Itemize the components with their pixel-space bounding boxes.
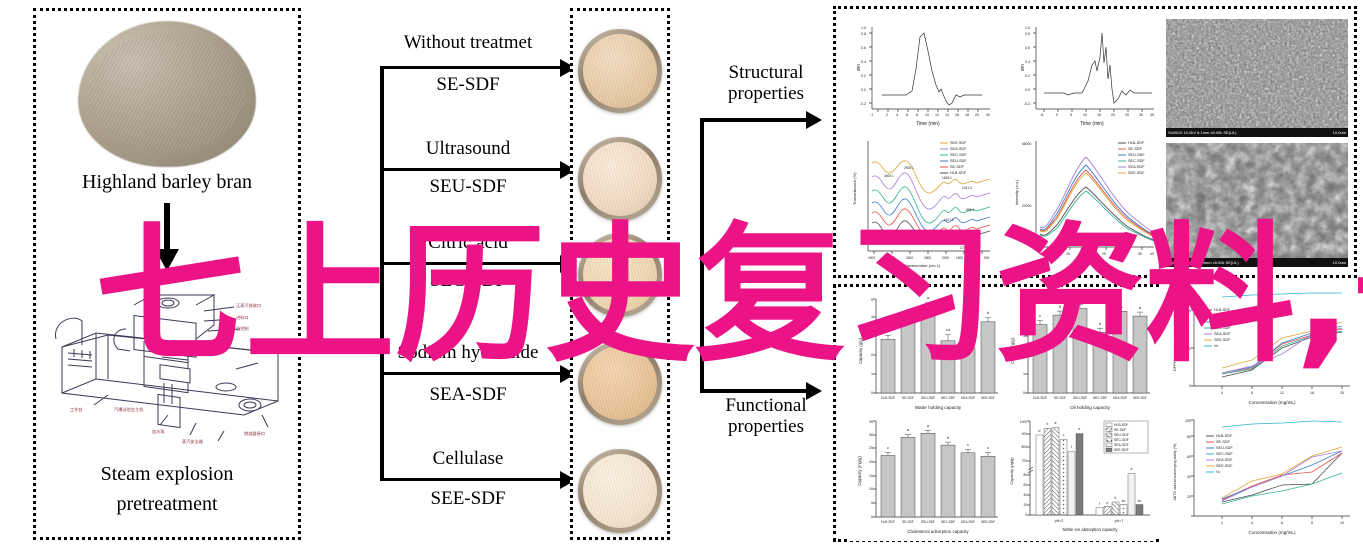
svg-text:HLB-SDF: HLB-SDF [881,396,895,400]
treatment-product-4: SEE-SDF [368,488,568,510]
abts-scavenging-chart: 246 810 204060 80100 Concentration (mg/m… [1160,414,1357,542]
treatment-method-1: Ultrasound [368,138,568,160]
svg-text:SEE-SDF: SEE-SDF [950,141,967,145]
svg-text:SE-SDF: SE-SDF [902,396,914,400]
svg-text:dRI: dRI [1020,64,1025,71]
svg-text:pH=2: pH=2 [1055,519,1064,523]
svg-text:SEA-SDF: SEA-SDF [1128,165,1145,169]
sample-dish-1 [578,137,662,221]
sample-dishes-panel [570,8,670,540]
svg-text:1500: 1500 [956,256,963,260]
antioxidant-charts-panel: 4812 1620 04080 100 Concentration (mg/mL… [1160,284,1357,542]
svg-text:500: 500 [984,256,990,260]
svg-text:HLB-SDF: HLB-SDF [1114,423,1129,427]
svg-text:1000: 1000 [1020,420,1027,424]
svg-text:800: 800 [1022,445,1028,449]
treatment-row-2: Citric acid SEC-SDF [368,232,568,292]
svg-text:0: 0 [1023,391,1025,395]
svg-text:b: b [1047,422,1049,426]
svg-text:0.0: 0.0 [1025,88,1030,92]
svg-text:16: 16 [1310,391,1314,395]
sem-label-bottom: SU8010 10.0kV 12.9mm x5.00k SE(UL) [1168,260,1239,265]
svg-text:a: a [1079,297,1082,302]
functional-label-line2: properties [728,416,804,437]
highland-barley-bran-image [78,21,256,167]
water-holding-capacity-chart: cba cddb HLB-SDFSE-SDFSEU-SDF SEC-SDFSEA… [850,293,1002,415]
svg-text:3000: 3000 [906,256,913,260]
sem-label-top: SU8010 10.0kV 8.1mm x5.00k SE(UL) [1168,130,1236,135]
svg-text:SEE-SDF: SEE-SDF [1114,448,1129,452]
svg-text:SE-SDF: SE-SDF [1214,314,1229,318]
svg-text:SEU-SDF: SEU-SDF [921,520,935,524]
svg-text:900: 900 [1022,432,1028,436]
svg-text:SEA-SDF: SEA-SDF [950,147,967,151]
functional-label-line1: Functional [725,395,806,416]
svg-text:20: 20 [869,460,873,464]
svg-text:SEU-SDF: SEU-SDF [1128,153,1145,157]
svg-text:80: 80 [1187,435,1191,439]
svg-text:80: 80 [1187,309,1191,313]
svg-text:dRI: dRI [856,64,861,71]
svg-text:100: 100 [1185,419,1191,423]
functional-branch-line [700,389,812,393]
svg-text:Capacity (g/g): Capacity (g/g) [1010,337,1015,364]
svg-text:SEA-SDF: SEA-SDF [961,520,975,524]
svg-text:8: 8 [1311,521,1313,525]
svg-text:3: 3 [1023,334,1025,338]
svg-text:Nitrite ion absorption capacit: Nitrite ion absorption capacity [1063,527,1119,532]
svg-text:40: 40 [1187,347,1191,351]
svg-text:1254.1: 1254.1 [946,240,956,244]
svg-text:1635.1: 1635.1 [942,176,952,180]
svg-text:1: 1 [871,372,873,376]
svg-text:蒸汽安全器: 蒸汽安全器 [182,438,204,445]
svg-text:SE-SDF: SE-SDF [1128,147,1143,151]
svg-text:0.0: 0.0 [861,88,866,92]
svg-text:2: 2 [886,113,888,117]
material-caption: Highland barley bran [36,171,298,194]
gpc-chromatogram-right: dRI Time (min) -505 101520 253035 -0.20.… [1008,17,1160,129]
svg-text:Intensity (a.u.): Intensity (a.u.) [1014,179,1019,205]
svg-text:HLB-SDF: HLB-SDF [1033,396,1047,400]
svg-text:Oil holding capacity: Oil holding capacity [1070,405,1111,410]
svg-text:Concentration (mg/mL): Concentration (mg/mL) [1249,400,1296,405]
svg-text:0: 0 [1189,384,1191,388]
treatment-product-3: SEA-SDF [368,384,568,406]
treatment-product-0: SE-SDF [368,74,568,96]
svg-text:20: 20 [1187,495,1191,499]
svg-text:35: 35 [1138,252,1142,256]
svg-text:正蒸汽排放口: 正蒸汽排放口 [236,302,261,309]
svg-text:2: 2 [1221,521,1223,525]
svg-text:0.2: 0.2 [861,74,866,78]
svg-text:0.4: 0.4 [861,60,866,64]
svg-text:Cholesterol adsorption capacit: Cholesterol adsorption capacity [907,529,969,534]
svg-text:pH=7: pH=7 [1115,519,1124,523]
svg-text:a: a [907,427,910,432]
treatment-method-3: Sodium hydroxide [368,342,568,364]
svg-text:15: 15 [1066,252,1070,256]
svg-text:2925.1: 2925.1 [904,166,914,170]
svg-text:0.6: 0.6 [1025,46,1030,50]
svg-text:Capacity (g/g): Capacity (g/g) [858,337,863,364]
svg-text:b: b [907,307,910,312]
svg-text:40: 40 [1023,493,1027,497]
svg-text:4: 4 [1221,391,1223,395]
svg-text:68000: 68000 [1022,142,1032,146]
svg-text:f: f [1071,445,1072,449]
svg-text:SEE-SDF: SEE-SDF [981,396,995,400]
svg-text:16: 16 [955,113,959,117]
material-panel: Highland barley bran [33,8,301,540]
svg-text:30: 30 [1120,252,1124,256]
svg-text:Time (min): Time (min) [916,121,940,127]
svg-text:c: c [987,445,989,450]
svg-text:DPPH radical scavenging rate (: DPPH radical scavenging rate (%) [1173,312,1177,370]
svg-text:0.6: 0.6 [861,46,866,50]
svg-text:c: c [967,442,969,447]
svg-text:20: 20 [1023,503,1027,507]
svg-text:SE-SDF: SE-SDF [1114,428,1126,432]
treatment-row-4: Cellulase SEE-SDF [368,448,568,510]
structural-properties-panel: dRI Time (min) -124 6810 121416 182040 -… [833,6,1357,278]
svg-text:0.8: 0.8 [1025,32,1030,36]
svg-text:2000: 2000 [942,256,949,260]
svg-text:SEU-SDF: SEU-SDF [1073,396,1087,400]
ftir-spectra-chart: 3405.12925.1 1635.11041.3 1417.6896.4 12… [844,135,996,273]
svg-text:10: 10 [1340,521,1344,525]
svg-text:SEA-SDF: SEA-SDF [1216,458,1233,462]
svg-text:SEA-SDF: SEA-SDF [961,396,975,400]
svg-text:SEU-SDF: SEU-SDF [1214,320,1231,324]
svg-text:6: 6 [906,113,908,117]
svg-text:20: 20 [1340,391,1344,395]
treatment-arrows: Without treatmet SE-SDF Ultrasound SEU-S… [368,10,568,540]
svg-text:SEC-SDF: SEC-SDF [941,396,955,400]
svg-text:1: 1 [1023,372,1025,376]
svg-text:Wavenumber (cm-1): Wavenumber (cm-1) [904,263,941,268]
svg-text:0.2: 0.2 [1025,74,1030,78]
svg-text:1000: 1000 [970,256,977,260]
svg-text:f: f [1099,502,1100,506]
svg-text:b: b [947,435,950,440]
svg-text:1732.7: 1732.7 [960,246,970,250]
svg-text:SEA-SDF: SEA-SDF [1114,443,1129,447]
svg-text:SEA-SDF: SEA-SDF [1113,396,1127,400]
svg-text:SEU-SDF: SEU-SDF [1114,433,1129,437]
treatment-product-1: SEU-SDF [368,176,568,198]
svg-text:25: 25 [1125,113,1129,117]
svg-text:35: 35 [869,420,873,424]
svg-text:80: 80 [1023,473,1027,477]
svg-text:10: 10 [1048,252,1052,256]
svg-text:SEC-SDF: SEC-SDF [1216,452,1233,456]
svg-text:700: 700 [1022,459,1028,463]
svg-text:2: 2 [871,353,873,357]
svg-text:15: 15 [1097,113,1101,117]
svg-text:4: 4 [896,113,898,117]
svg-text:4: 4 [1023,315,1025,319]
svg-text:1.0: 1.0 [861,26,866,30]
svg-text:3500: 3500 [888,256,895,260]
svg-text:Concentration (mg/mL): Concentration (mg/mL) [1249,530,1296,535]
svg-text:a: a [927,295,930,300]
svg-text:Transmittance (%): Transmittance (%) [852,172,857,205]
svg-text:c: c [887,445,889,450]
svg-text:Time (min): Time (min) [1080,121,1104,127]
svg-text:20: 20 [1111,113,1115,117]
svg-text:SE-SDF: SE-SDF [1054,396,1066,400]
svg-text:5: 5 [1070,113,1072,117]
sem-image-bottom: SU8010 10.0kV 12.9mm x5.00k SE(UL) 10.0u… [1166,143,1348,267]
svg-text:10: 10 [869,487,873,491]
treatment-row-0: Without treatmet SE-SDF [368,32,568,96]
svg-text:0.8: 0.8 [861,32,866,36]
svg-text:d: d [1039,429,1041,433]
svg-text:a: a [1055,421,1057,425]
svg-text:SEU-SDF: SEU-SDF [921,396,935,400]
svg-text:SEC-SDF: SEC-SDF [1128,159,1145,163]
steam-explosion-reactor-diagram: 正蒸汽排放口进料口总控制 工作台汽爆试验台主机 加水泵蒸汽安全器燃烧器接口 [48,283,292,463]
sample-dish-2 [578,233,662,317]
svg-text:12: 12 [935,113,939,117]
svg-text:20: 20 [1084,252,1088,256]
svg-text:e: e [1079,427,1081,431]
svg-text:SEU-SDF: SEU-SDF [950,159,967,163]
svg-text:bc: bc [1138,499,1142,503]
svg-text:总控制: 总控制 [236,325,249,332]
svg-text:燃烧器接口: 燃烧器接口 [244,430,265,437]
svg-text:SE-SDF: SE-SDF [1216,440,1231,444]
svg-text:0: 0 [871,391,873,395]
svg-text:Vc: Vc [1216,470,1221,474]
structural-arrowhead [806,111,822,129]
gpc-chromatogram-left: dRI Time (min) -124 6810 121416 182040 -… [844,17,996,129]
svg-text:35: 35 [1150,113,1154,117]
svg-text:6: 6 [1281,521,1283,525]
svg-text:12: 12 [1280,391,1284,395]
svg-text:0: 0 [1056,113,1058,117]
svg-text:0: 0 [1025,513,1027,517]
svg-text:8: 8 [916,113,918,117]
svg-text:b: b [1115,496,1117,500]
svg-text:b: b [1119,300,1122,305]
svg-text:0: 0 [871,515,873,519]
svg-text:d: d [967,335,969,340]
structural-properties-label: Structural properties [706,62,826,104]
svg-text:25: 25 [1102,252,1106,256]
svg-text:10: 10 [925,113,929,117]
svg-text:40: 40 [986,113,990,117]
svg-text:b: b [1059,304,1062,309]
svg-text:20000: 20000 [1022,204,1032,208]
results-bus-line [700,118,704,392]
svg-text:4: 4 [871,315,873,319]
treatment-method-2: Citric acid [368,232,568,254]
svg-text:2θ (°): 2θ (°) [1086,261,1097,266]
svg-text:HLB-SDF: HLB-SDF [950,171,967,175]
svg-text:HLB-SDF: HLB-SDF [1128,141,1145,145]
svg-text:-0.2: -0.2 [1024,102,1030,106]
pretreatment-caption-line1: Steam explosion [36,463,298,486]
svg-text:2: 2 [1023,353,1025,357]
svg-text:a: a [927,423,930,428]
svg-text:加水泵: 加水泵 [152,428,165,435]
svg-text:8: 8 [1251,391,1253,395]
svg-text:40: 40 [1150,252,1154,256]
svg-text:b: b [987,310,990,315]
svg-text:SEE-SDF: SEE-SDF [1214,338,1231,342]
structural-branch-line [700,118,812,122]
svg-text:HLB-SDF: HLB-SDF [881,520,895,524]
svg-text:Water holding capacity: Water holding capacity [915,405,962,410]
svg-text:SE-SDF: SE-SDF [902,520,914,524]
svg-text:10: 10 [1083,113,1087,117]
sem-scale-bottom: 10.0um [1333,260,1346,265]
oil-holding-capacity-chart: cba dbb HLB-SDFSE-SDFSEU-SDF SEC-SDFSEA-… [1002,293,1154,415]
sample-dish-0 [578,29,662,113]
xrd-pattern-chart: 6800020000 101520 253035 40 2θ (°) Inten… [1008,135,1160,273]
svg-text:2500: 2500 [924,256,931,260]
svg-text:40: 40 [1187,475,1191,479]
svg-text:100: 100 [1185,289,1191,293]
svg-text:Capacity (µg/g): Capacity (µg/g) [1009,457,1014,485]
svg-text:ABTS radical scavenging abilit: ABTS radical scavenging ability (%) [1173,444,1177,501]
svg-text:SEC-SDF: SEC-SDF [950,153,967,157]
svg-text:c: c [1063,433,1065,437]
svg-text:SEE-SDF: SEE-SDF [981,520,995,524]
sample-dish-3 [578,341,662,425]
svg-text:c: c [1039,313,1041,318]
svg-text:18: 18 [965,113,969,117]
svg-text:a: a [1131,467,1133,471]
svg-text:3: 3 [871,334,873,338]
sem-scale-top: 10.0um [1333,130,1346,135]
svg-text:60: 60 [1023,483,1027,487]
svg-text:SEE-SDF: SEE-SDF [1216,464,1233,468]
svg-text:5: 5 [871,298,873,302]
sem-scale-bar-bottom: SU8010 10.0kV 12.9mm x5.00k SE(UL) 10.0u… [1166,258,1348,267]
treatment-product-2: SEC-SDF [368,270,568,292]
functional-properties-label: Functional properties [706,395,826,437]
structural-label-line1: Structural [729,62,804,83]
svg-text:e: e [1107,501,1109,505]
svg-text:5: 5 [871,501,873,505]
svg-text:SEE-SDF: SEE-SDF [1128,171,1145,175]
svg-text:60: 60 [1187,455,1191,459]
svg-text:SEE-SDF: SEE-SDF [1133,396,1147,400]
svg-text:0.4: 0.4 [1025,60,1030,64]
svg-text:HLB-SDF: HLB-SDF [1216,434,1233,438]
svg-text:30: 30 [1139,113,1143,117]
svg-text:4: 4 [1251,521,1253,525]
svg-text:汽爆试验台主机: 汽爆试验台主机 [114,406,144,413]
cholesterol-adsorption-chart: caa bcc HLB-SDFSE-SDFSEU-SDF SEC-SDFSEA-… [850,415,1002,541]
treatment-method-0: Without treatmet [368,32,568,54]
svg-text:SEC-SDF: SEC-SDF [1093,396,1107,400]
svg-text:3405.1: 3405.1 [884,174,894,178]
sem-scale-bar-top: SU8010 10.0kV 8.1mm x5.00k SE(UL) 10.0um [1166,128,1348,137]
treatment-method-4: Cellulase [368,448,568,470]
sample-dish-4 [578,449,662,533]
svg-text:25: 25 [869,446,873,450]
svg-text:HLB-SDF: HLB-SDF [1214,308,1231,312]
svg-text:14: 14 [945,113,949,117]
svg-text:4000: 4000 [868,256,875,260]
svg-text:5: 5 [1023,298,1025,302]
nitrite-absorption-chart: dba cfe feb bcabc pH=2pH=7 02040 6080700… [1002,415,1154,541]
svg-text:-5: -5 [1040,113,1043,117]
svg-text:SEC-SDF: SEC-SDF [1214,326,1231,330]
svg-text:1417.6: 1417.6 [944,218,954,222]
svg-text:1.0: 1.0 [1025,26,1030,30]
svg-text:SEA-SDF: SEA-SDF [1214,332,1231,336]
svg-text:15: 15 [869,474,873,478]
svg-text:SE-SDF: SE-SDF [950,165,965,169]
dpph-scavenging-chart: 4812 1620 04080 100 Concentration (mg/mL… [1160,284,1357,412]
svg-text:bc: bc [1122,499,1126,503]
svg-text:-0.2: -0.2 [860,102,866,106]
svg-text:20: 20 [975,113,979,117]
svg-text:-1: -1 [870,113,873,117]
svg-text:cd: cd [946,327,950,332]
svg-text:30: 30 [869,433,873,437]
svg-text:工作台: 工作台 [70,406,83,413]
treatment-row-3: Sodium hydroxide SEA-SDF [368,342,568,406]
svg-text:d: d [1099,321,1101,326]
svg-text:SEU-SDF: SEU-SDF [1216,446,1233,450]
svg-text:c: c [887,328,889,333]
svg-text:1041.3: 1041.3 [962,186,972,190]
svg-text:896.4: 896.4 [966,208,974,212]
svg-text:Vc: Vc [1214,344,1219,348]
svg-text:Capacity (mg/g): Capacity (mg/g) [857,456,862,486]
svg-text:进料口: 进料口 [236,314,249,321]
svg-text:SEC-SDF: SEC-SDF [1114,438,1129,442]
svg-text:b: b [1139,305,1142,310]
structural-label-line2: properties [728,83,804,104]
sem-image-top: SU8010 10.0kV 8.1mm x5.00k SE(UL) 10.0um [1166,19,1348,137]
treatment-row-1: Ultrasound SEU-SDF [368,138,568,198]
svg-text:SEC-SDF: SEC-SDF [941,520,955,524]
pretreatment-caption-line2: pretreatment [36,493,298,516]
